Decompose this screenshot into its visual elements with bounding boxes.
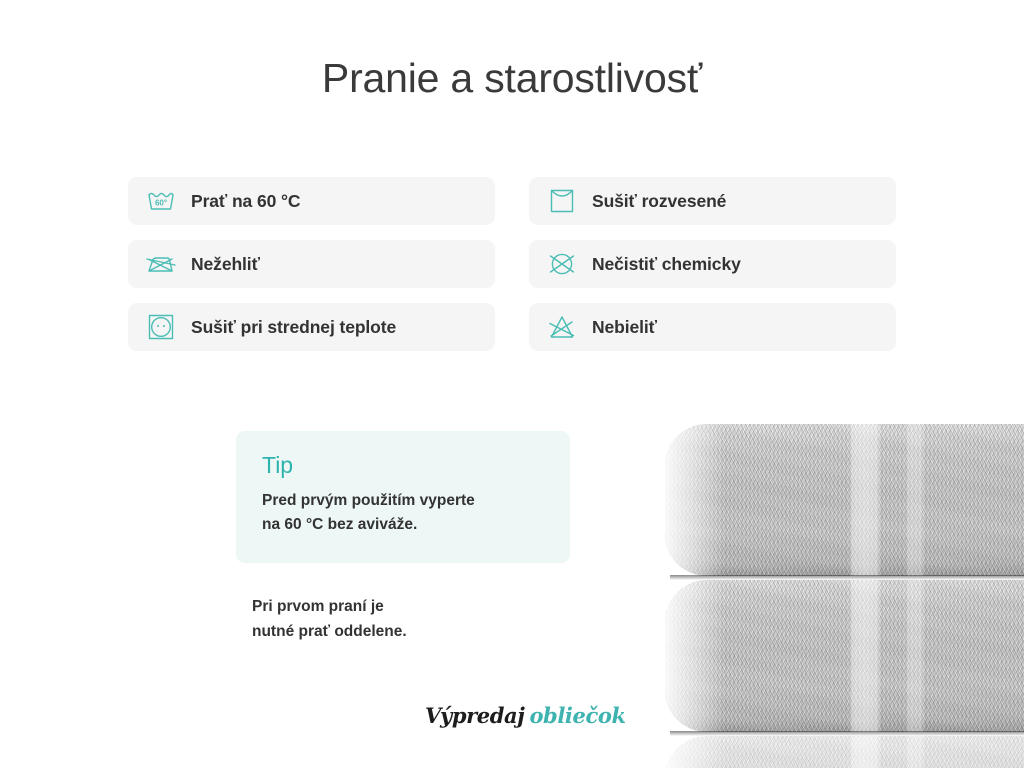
care-pill-label: Nežehliť (191, 254, 260, 275)
do-not-dry-clean-icon (545, 247, 579, 281)
wash-60-icon: 60° (144, 184, 178, 218)
note-line-1: Pri prvom praní je (252, 594, 407, 619)
towel-layer-bottom (665, 736, 1024, 768)
do-not-bleach-icon (545, 310, 579, 344)
care-pill-line-dry[interactable]: Sušiť rozvesené (529, 177, 896, 225)
care-pill-label: Sušiť pri strednej teplote (191, 317, 396, 338)
brand-logo-part-2: obliečok (529, 703, 625, 728)
care-pill-do-not-dry-clean[interactable]: Nečistiť chemicky (529, 240, 896, 288)
care-pill-do-not-iron[interactable]: Nežehliť (128, 240, 495, 288)
care-pill-label: Prať na 60 °C (191, 191, 300, 212)
towel-stack-photo (640, 412, 1024, 768)
note-line-2: nutné prať oddelene. (252, 619, 407, 644)
care-pill-do-not-bleach[interactable]: Nebieliť (529, 303, 896, 351)
care-pill-label: Nebieliť (592, 317, 657, 338)
care-pill-label: Sušiť rozvesené (592, 191, 726, 212)
care-pill-label: Nečistiť chemicky (592, 254, 741, 275)
brand-logo-part-1: Výpredaj (425, 703, 524, 728)
care-pill-tumble-dry-medium[interactable]: Sušiť pri strednej teplote (128, 303, 495, 351)
towel-layer-top (665, 424, 1024, 576)
care-instructions-grid: 60° Prať na 60 °C Nežehliť (128, 177, 896, 352)
care-column-left: 60° Prať na 60 °C Nežehliť (128, 177, 495, 366)
care-column-right: Sušiť rozvesené Nečistiť chemicky Ne (529, 177, 896, 366)
tip-body-line-1: Pred prvým použitím vyperte (262, 489, 544, 513)
tip-body-line-2: na 60 °C bez aviváže. (262, 513, 544, 537)
tip-box: Tip Pred prvým použitím vyperte na 60 °C… (236, 431, 570, 563)
tip-body: Pred prvým použitím vyperte na 60 °C bez… (262, 489, 544, 536)
tumble-dry-medium-icon (144, 310, 178, 344)
note-text: Pri prvom praní je nutné prať oddelene. (252, 594, 407, 644)
care-pill-wash-60[interactable]: 60° Prať na 60 °C (128, 177, 495, 225)
tip-heading: Tip (262, 453, 544, 478)
towel-layer-middle (665, 580, 1024, 732)
page-title: Pranie a starostlivosť (0, 55, 1024, 102)
svg-text:60°: 60° (155, 199, 167, 208)
brand-logo[interactable]: Výpredajobliečok (425, 703, 626, 728)
line-dry-icon (545, 184, 579, 218)
do-not-iron-icon (144, 247, 178, 281)
